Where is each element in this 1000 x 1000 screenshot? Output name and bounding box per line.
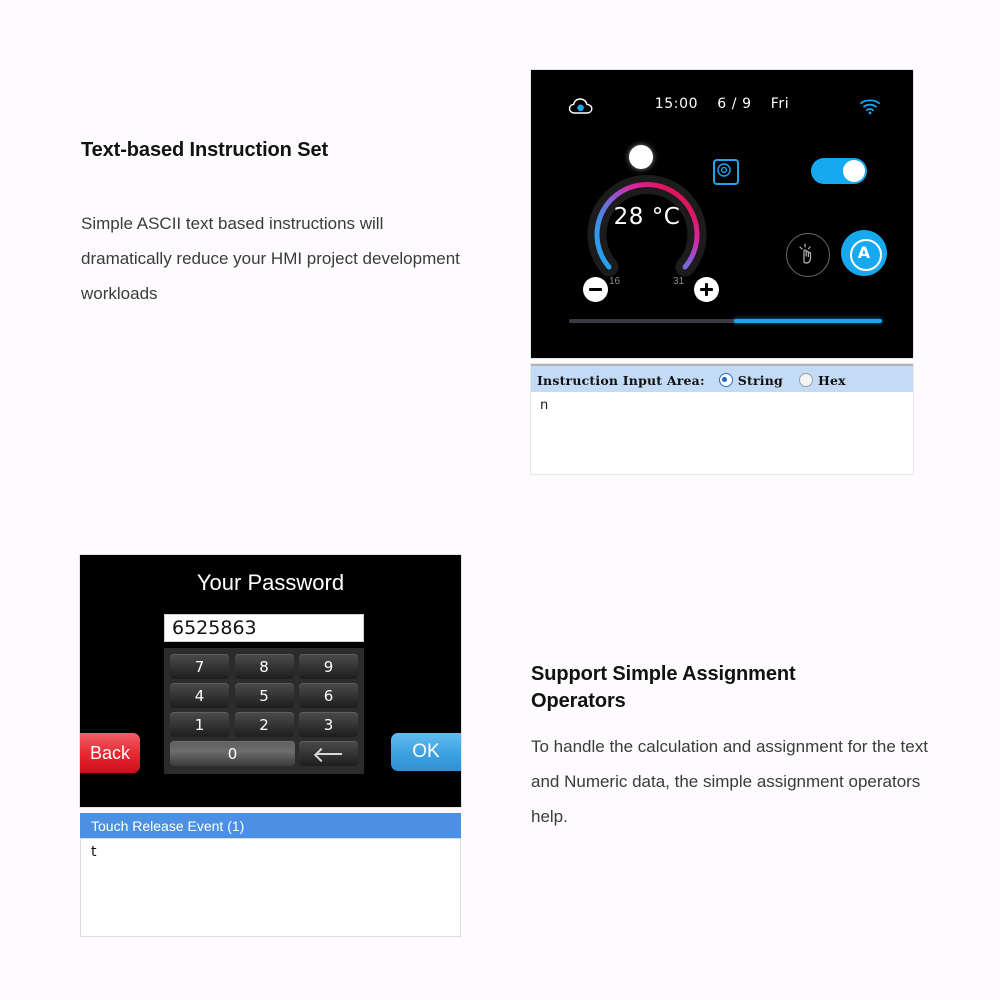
instruction-input-area: Instruction Input Area: String Hex n (531, 364, 913, 474)
feature-top-body: Simple ASCII text based instructions wil… (81, 206, 471, 311)
password-input-field[interactable]: 6525863 (164, 614, 364, 642)
slider-bar-right[interactable] (734, 319, 882, 323)
key-1[interactable]: 1 (170, 712, 229, 737)
key-2[interactable]: 2 (235, 712, 294, 737)
thermostat-hmi-panel: 15:00 6 / 9 Fri (531, 70, 913, 358)
key-3[interactable]: 3 (299, 712, 358, 737)
key-8[interactable]: 8 (235, 654, 294, 679)
touch-release-event-header: Touch Release Event (1) (80, 813, 461, 838)
hmi-status-bar: 15:00 6 / 9 Fri (531, 96, 913, 120)
auto-label: A (841, 243, 887, 262)
radio-hex-label[interactable]: Hex (818, 373, 846, 388)
touch-release-event-area: Touch Release Event (1) t (80, 813, 461, 937)
hand-touch-icon (796, 242, 818, 266)
auto-mode-button[interactable]: A (841, 230, 887, 276)
key-6[interactable]: 6 (299, 683, 358, 708)
instruction-input-label: Instruction Input Area: (537, 373, 705, 388)
dial-temperature-value: 28 °C (573, 204, 721, 230)
key-5[interactable]: 5 (235, 683, 294, 708)
temperature-increase-button[interactable] (694, 277, 719, 302)
manual-mode-button[interactable] (786, 233, 830, 277)
key-7[interactable]: 7 (170, 654, 229, 679)
wifi-icon (859, 97, 881, 115)
feature-bottom-body: To handle the calculation and assignment… (531, 729, 931, 834)
key-4[interactable]: 4 (170, 683, 229, 708)
radio-hex[interactable] (799, 373, 813, 387)
instruction-input-header: Instruction Input Area: String Hex (531, 364, 913, 394)
hmi-screen: 15:00 6 / 9 Fri (531, 70, 913, 358)
key-9[interactable]: 9 (299, 654, 358, 679)
backspace-arrow-icon[interactable] (299, 741, 358, 766)
feature-bottom-title: Support Simple Assignment Operators (531, 661, 861, 715)
temperature-dial[interactable]: 28 °C 16 31 (573, 148, 721, 298)
keypad-row: 1 2 3 (170, 712, 358, 737)
radio-string-label[interactable]: String (738, 373, 783, 388)
numeric-keypad: 7 8 9 4 5 6 1 2 3 0 (164, 648, 364, 774)
feature-top-title: Text-based Instruction Set (81, 137, 481, 164)
keypad-row: 7 8 9 (170, 654, 358, 679)
power-toggle-switch[interactable] (811, 158, 867, 184)
touch-release-event-textarea[interactable]: t (80, 838, 461, 937)
keypad-row: 0 (170, 741, 358, 766)
ok-button[interactable]: OK (391, 733, 461, 771)
slider-bar-left[interactable] (569, 319, 747, 323)
back-button[interactable]: Back (80, 733, 140, 773)
dial-min-label: 16 (609, 276, 620, 287)
dial-max-label: 31 (673, 276, 684, 287)
dial-knob[interactable] (629, 145, 653, 169)
hmi-date: 6 / 9 (717, 96, 751, 112)
temperature-decrease-button[interactable] (583, 277, 608, 302)
target-focus-icon[interactable] (713, 159, 739, 185)
password-title: Your Password (80, 570, 461, 596)
key-0[interactable]: 0 (170, 741, 295, 766)
instruction-input-textarea[interactable]: n (531, 392, 913, 474)
instruction-format-options: String Hex (719, 373, 862, 388)
hmi-weekday: Fri (771, 96, 789, 112)
radio-string[interactable] (719, 373, 733, 387)
hmi-time: 15:00 (655, 96, 698, 112)
hmi-clock: 15:00 6 / 9 Fri (531, 96, 913, 112)
toggle-knob (843, 160, 865, 182)
keypad-row: 4 5 6 (170, 683, 358, 708)
